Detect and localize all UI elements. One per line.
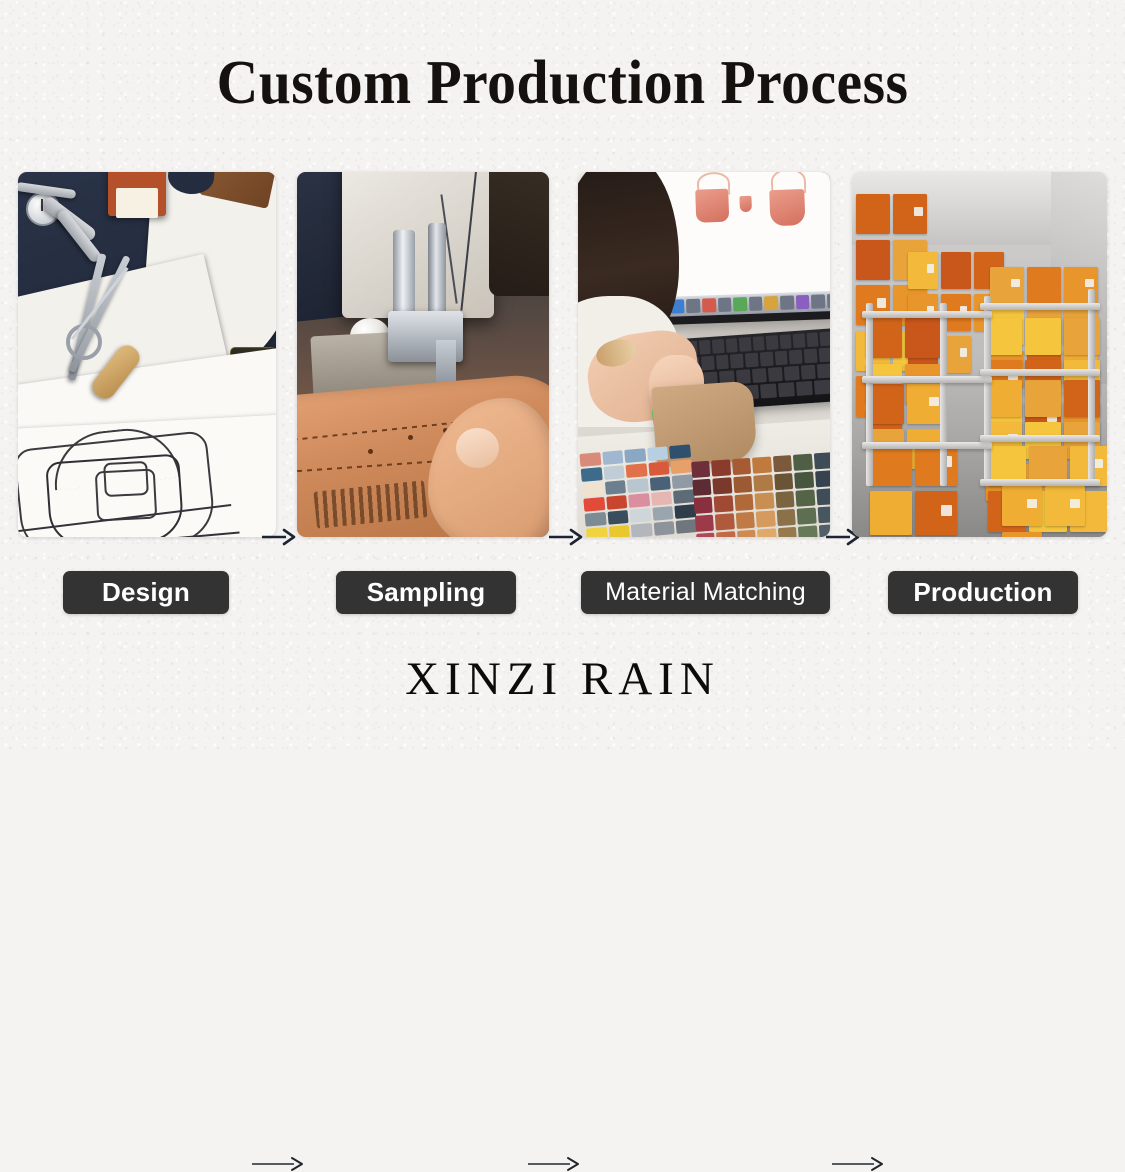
arrow-right-icon [252, 1156, 306, 1172]
brand-wordmark: XINZI RAIN [0, 652, 1125, 706]
step-label-production[interactable]: Production [888, 571, 1078, 614]
step-label-text: Material Matching [605, 578, 806, 607]
step-label-text: Design [102, 577, 190, 608]
design-desk-photo [18, 172, 276, 537]
arrow-right-icon [832, 1156, 886, 1172]
step-label-design[interactable]: Design [63, 571, 229, 614]
sewing-machine-photo [297, 172, 549, 537]
step-label-sampling[interactable]: Sampling [336, 571, 516, 614]
arrow-right-icon [262, 528, 296, 546]
step-label-material-matching[interactable]: Material Matching [581, 571, 830, 614]
arrow-right-icon [528, 1156, 582, 1172]
swatch-fan-left [579, 445, 697, 537]
step-label-text: Sampling [367, 577, 486, 608]
swatch-fan-right [691, 452, 830, 537]
step-label-text: Production [913, 577, 1052, 608]
process-label-row: Design Sampling Material Matching Produc… [0, 571, 1125, 615]
warehouse-photo [852, 172, 1107, 537]
infographic-canvas: Custom Production Process [0, 0, 1125, 750]
material-matching-photo [578, 172, 830, 537]
page-title: Custom Production Process [39, 52, 1085, 114]
process-photo-row [0, 172, 1125, 537]
